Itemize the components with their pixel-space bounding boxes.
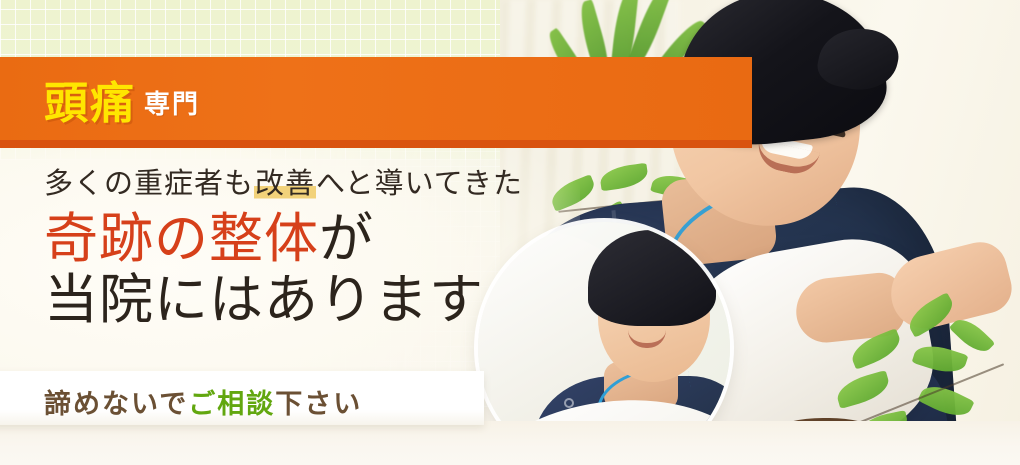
headline-line-2: 奇跡の整体が (44, 209, 564, 269)
specialty-kanji: 頭痛 (44, 82, 136, 126)
banner-root: 頭痛 専門 多くの重症者も改善へと導いてきた 奇跡の整体が 当院にはあります 諦… (0, 0, 1020, 465)
bottom-cream-strip (0, 421, 1020, 465)
ribbon-before: 諦めないで (44, 389, 188, 419)
headline-highlight: 改善 (254, 168, 316, 200)
headline-line2-rest: が (319, 209, 374, 269)
specialty-sub: 専門 (144, 91, 200, 117)
headline-line-1: 多くの重症者も改善へと導いてきた (44, 168, 564, 201)
inset-therapist-button (564, 398, 574, 408)
headline-line-3: 当院にはあります (44, 270, 564, 330)
headline-line1-before: 多くの重症者も (44, 168, 254, 200)
ribbon-accent: ご相談 (188, 389, 275, 419)
headline-line1-after: へと導いてきた (316, 168, 523, 200)
headline-accent: 奇跡の整体 (44, 209, 319, 269)
ribbon-after: 下さい (275, 389, 362, 419)
ribbon-message: 諦めないでご相談下さい (44, 382, 362, 421)
headline-block: 多くの重症者も改善へと導いてきた 奇跡の整体が 当院にはあります (44, 168, 564, 330)
specialty-badge: 頭痛 専門 (44, 63, 200, 145)
